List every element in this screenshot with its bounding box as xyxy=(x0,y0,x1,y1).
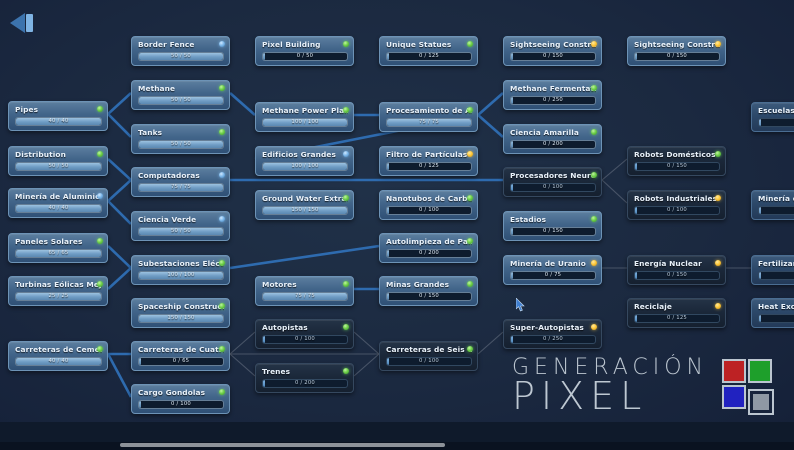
tech-node-spaceship-construction[interactable]: Spaceship Construction150 / 150 xyxy=(131,298,230,328)
mouse-cursor xyxy=(516,297,525,311)
tech-node-label: Autopistas xyxy=(262,323,348,333)
back-arrow-icon xyxy=(10,13,25,33)
tech-node-progress-bar: 0 / 100 xyxy=(634,206,720,215)
tech-node-green-gem-icon xyxy=(591,129,597,135)
tech-node-label: Unique Statues xyxy=(386,40,472,50)
horizontal-scrollbar[interactable] xyxy=(0,442,794,450)
tech-node-green-gem-icon xyxy=(467,281,473,287)
tech-node-label: Ground Water Extraction xyxy=(262,194,348,204)
tech-node-label: Methane Fermentation xyxy=(510,84,596,94)
tech-node-blue-gem-icon xyxy=(97,193,103,199)
tech-node-progress-bar: 100 / 100 xyxy=(138,271,224,280)
tech-node-progress-amount: 0 / 100 xyxy=(387,207,471,214)
tech-node-green-gem-icon xyxy=(219,260,225,266)
tech-node-progress-amount: 25 / 25 xyxy=(16,293,101,300)
tech-node-progress-bar: 40 / 40 xyxy=(15,357,102,366)
tech-node-motores[interactable]: Motores75 / 75 xyxy=(255,276,354,306)
tech-node-distribution[interactable]: Distribution50 / 50 xyxy=(8,146,108,176)
tech-node-mineria-aluminio[interactable]: Minería de Aluminio40 / 40 xyxy=(8,188,108,218)
tech-node-paneles-solares[interactable]: Paneles Solares65 / 65 xyxy=(8,233,108,263)
tech-node-ground-water-extraction[interactable]: Ground Water Extraction150 / 150 xyxy=(255,190,354,220)
tech-node-label: Autolimpieza de Paneles Solares xyxy=(386,237,472,247)
tech-node-green-gem-icon xyxy=(591,216,597,222)
tech-node-progress-bar: 0 / 150 xyxy=(634,162,720,171)
tech-node-label: Ciencia Amarilla xyxy=(510,128,596,138)
tech-node-label: Fertilizante xyxy=(758,259,794,269)
tech-node-minas-grandes[interactable]: Minas Grandes0 / 150 xyxy=(379,276,478,306)
tech-node-methane-fermentation[interactable]: Methane Fermentation0 / 250 xyxy=(503,80,602,110)
tech-node-unique-statues[interactable]: Unique Statues0 / 125 xyxy=(379,36,478,66)
tech-node-progress-bar: 0 / 150 xyxy=(386,292,472,301)
tech-node-progress-amount: 0 / 100 xyxy=(263,336,347,343)
tech-node-progress-amount: 100 / 100 xyxy=(139,272,223,279)
tech-node-yellow-gem-icon xyxy=(467,151,473,157)
tech-node-label: Trenes xyxy=(262,367,348,377)
tech-node-progress-bar: 150 / 150 xyxy=(262,206,348,215)
tech-node-progress-bar xyxy=(758,118,794,127)
tech-link xyxy=(602,180,627,203)
tech-node-procesadores-neuronales[interactable]: Procesadores Neuronales0 / 100 xyxy=(503,167,602,197)
tech-node-progress-bar: 65 / 65 xyxy=(15,249,102,258)
tech-node-computadoras[interactable]: Computadoras75 / 75 xyxy=(131,167,230,197)
tech-node-progress-bar: 0 / 125 xyxy=(386,52,472,61)
tech-node-green-gem-icon xyxy=(343,368,349,374)
tech-node-ciencia-amarilla[interactable]: Ciencia Amarilla0 / 200 xyxy=(503,124,602,154)
tech-node-progress-bar: 0 / 150 xyxy=(634,271,720,280)
tech-node-robots-industriales[interactable]: Robots Industriales0 / 100 xyxy=(627,190,726,220)
tech-node-progress-amount: 0 / 250 xyxy=(511,336,595,343)
tech-node-green-gem-icon xyxy=(467,195,473,201)
tech-link xyxy=(108,159,131,180)
tech-node-label: Procesamiento de Alimentos xyxy=(386,106,472,116)
tech-node-label: Pipes xyxy=(15,105,102,115)
tech-node-blue-gem-icon xyxy=(219,216,225,222)
tech-node-mineria-uranio[interactable]: Minería de Uranio0 / 75 xyxy=(503,255,602,285)
tech-node-yellow-gem-icon xyxy=(591,260,597,266)
tech-node-subestaciones[interactable]: Subestaciones Eléctricas100 / 100 xyxy=(131,255,230,285)
scrollbar-thumb[interactable] xyxy=(120,443,445,447)
tech-node-label: Energía Nuclear xyxy=(634,259,720,269)
tech-node-label: Super-Autopistas xyxy=(510,323,596,333)
tech-node-progress-amount: 0 / 125 xyxy=(387,53,471,60)
tech-node-green-gem-icon xyxy=(343,107,349,113)
tech-node-progress-amount: 150 / 150 xyxy=(263,207,347,214)
tech-node-progress-bar: 40 / 40 xyxy=(15,204,102,213)
tech-node-tanks[interactable]: Tanks50 / 50 xyxy=(131,124,230,154)
tech-node-label: Methane xyxy=(138,84,224,94)
tech-node-label: Edificios Grandes xyxy=(262,150,348,160)
tech-node-label: Robots Industriales xyxy=(634,194,720,204)
tech-link xyxy=(108,246,131,268)
tech-node-pixel-building[interactable]: Pixel Building0 / 50 xyxy=(255,36,354,66)
tech-node-progress-amount: 50 / 50 xyxy=(139,228,223,235)
tech-node-progress-bar: 0 / 250 xyxy=(510,335,596,344)
tech-node-energia-nuclear[interactable]: Energía Nuclear0 / 150 xyxy=(627,255,726,285)
tech-node-border-fence[interactable]: Border Fence50 / 50 xyxy=(131,36,230,66)
tech-node-fertilizante[interactable]: Fertilizante xyxy=(751,255,794,285)
tech-node-estadios[interactable]: Estadios0 / 150 xyxy=(503,211,602,241)
tech-node-progress-bar: 0 / 75 xyxy=(510,271,596,280)
tech-node-progress-amount: 0 / 150 xyxy=(635,53,719,60)
tech-node-progress-amount: 75 / 75 xyxy=(139,184,223,191)
tech-node-progress-bar xyxy=(758,271,794,280)
tech-node-progress-bar xyxy=(758,206,794,215)
tech-node-label: Distribution xyxy=(15,150,102,160)
tech-node-progress-bar: 0 / 100 xyxy=(138,400,224,409)
tech-link xyxy=(602,159,627,180)
tech-node-label: Cargo Gondolas xyxy=(138,388,224,398)
tech-node-progress-bar: 0 / 100 xyxy=(386,206,472,215)
tech-node-progress-amount: 0 / 150 xyxy=(387,293,471,300)
tech-node-carreteras-cemento[interactable]: Carreteras de Cemento40 / 40 xyxy=(8,341,108,371)
tech-node-progress-amount: 50 / 50 xyxy=(139,97,223,104)
tech-node-label: Minería de Uranio xyxy=(510,259,596,269)
tech-node-progress-bar: 0 / 150 xyxy=(510,52,596,61)
tech-node-progress-amount xyxy=(759,315,794,322)
tech-link xyxy=(354,332,379,354)
tech-link xyxy=(478,332,503,354)
tech-node-progress-bar: 0 / 200 xyxy=(510,140,596,149)
tech-link xyxy=(230,93,255,115)
tech-node-progress-bar: 0 / 100 xyxy=(510,183,596,192)
tech-node-progress-bar: 0 / 200 xyxy=(386,249,472,258)
tech-node-label: Reciclaje xyxy=(634,302,720,312)
tech-node-escuelas[interactable]: Escuelas xyxy=(751,102,794,132)
tech-node-label: Tanks xyxy=(138,128,224,138)
tech-node-progress-bar: 50 / 50 xyxy=(138,52,224,61)
tech-node-green-gem-icon xyxy=(343,41,349,47)
tech-node-label: Methane Power Plants xyxy=(262,106,348,116)
tech-node-label: Sightseeing Constructions A xyxy=(510,40,596,50)
tech-node-green-gem-icon xyxy=(591,85,597,91)
tech-node-green-gem-icon xyxy=(97,106,103,112)
tech-node-label: Subestaciones Eléctricas xyxy=(138,259,224,269)
tech-node-progress-bar: 100 / 100 xyxy=(262,162,348,171)
tech-node-progress-bar: 75 / 75 xyxy=(386,118,472,127)
tech-node-label: Filtro de Partículas xyxy=(386,150,472,160)
tech-node-yellow-gem-icon xyxy=(715,260,721,266)
tech-node-nanotubos-carbono[interactable]: Nanotubos de Carbono0 / 100 xyxy=(379,190,478,220)
tech-node-progress-bar: 40 / 40 xyxy=(15,117,102,126)
tech-node-blue-gem-icon xyxy=(219,41,225,47)
tech-node-label: Carreteras de Cemento xyxy=(15,345,102,355)
tech-node-label: Sightseeing Constructions B xyxy=(634,40,720,50)
tech-node-progress-amount: 150 / 150 xyxy=(139,315,223,322)
tech-node-progress-bar: 25 / 25 xyxy=(15,292,102,301)
tech-node-progress-bar: 0 / 150 xyxy=(510,227,596,236)
tech-node-progress-amount: 0 / 75 xyxy=(511,272,595,279)
tech-node-green-gem-icon xyxy=(591,172,597,178)
tech-link xyxy=(478,93,503,115)
tech-node-progress-amount: 40 / 40 xyxy=(16,205,101,212)
tech-node-robots-domesticos[interactable]: Robots Domésticos0 / 150 xyxy=(627,146,726,176)
tech-node-progress-amount: 0 / 125 xyxy=(635,315,719,322)
tech-node-progress-amount: 75 / 75 xyxy=(387,119,471,126)
tech-node-label: Motores xyxy=(262,280,348,290)
tech-link xyxy=(230,246,379,268)
tech-node-progress-bar: 50 / 50 xyxy=(138,140,224,149)
tech-node-yellow-gem-icon xyxy=(715,303,721,309)
tech-node-yellow-gem-icon xyxy=(715,195,721,201)
tech-node-progress-amount: 0 / 150 xyxy=(511,53,595,60)
tech-node-label: Ciencia Verde xyxy=(138,215,224,225)
back-button[interactable] xyxy=(10,10,44,36)
tech-node-progress-amount: 0 / 150 xyxy=(635,163,719,170)
tech-node-progress-amount xyxy=(759,119,794,126)
tech-node-green-gem-icon xyxy=(97,238,103,244)
tech-node-autopistas[interactable]: Autopistas0 / 100 xyxy=(255,319,354,349)
tech-node-progress-amount: 0 / 150 xyxy=(635,272,719,279)
tech-node-progress-amount: 0 / 100 xyxy=(139,401,223,408)
tech-node-label: Minería de Iri xyxy=(758,194,794,204)
tech-node-progress-amount xyxy=(759,207,794,214)
tech-node-label: Robots Domésticos xyxy=(634,150,720,160)
tech-node-label: Spaceship Construction xyxy=(138,302,224,312)
tech-node-procesamiento-alimentos[interactable]: Procesamiento de Alimentos75 / 75 xyxy=(379,102,478,132)
tech-node-progress-bar: 0 / 125 xyxy=(386,162,472,171)
tech-node-green-gem-icon xyxy=(97,151,103,157)
tech-node-sightseeing-b[interactable]: Sightseeing Constructions B0 / 150 xyxy=(627,36,726,66)
tech-node-progress-bar: 100 / 100 xyxy=(262,118,348,127)
tech-node-cargo-gondolas[interactable]: Cargo Gondolas0 / 100 xyxy=(131,384,230,414)
tech-node-label: Escuelas xyxy=(758,106,794,116)
tech-node-ciencia-verde[interactable]: Ciencia Verde50 / 50 xyxy=(131,211,230,241)
tech-node-progress-amount: 50 / 50 xyxy=(139,53,223,60)
tech-node-progress-bar: 0 / 50 xyxy=(262,52,348,61)
tech-node-progress-amount: 0 / 250 xyxy=(511,97,595,104)
tech-node-label: Nanotubos de Carbono xyxy=(386,194,472,204)
tech-node-label: Border Fence xyxy=(138,40,224,50)
back-bar-icon xyxy=(26,14,33,32)
tech-node-progress-bar: 0 / 100 xyxy=(386,357,472,366)
tech-node-progress-amount: 0 / 125 xyxy=(387,163,471,170)
tech-link xyxy=(108,354,131,397)
tech-node-reciclaje[interactable]: Reciclaje0 / 125 xyxy=(627,298,726,328)
tech-node-progress-bar: 75 / 75 xyxy=(262,292,348,301)
tech-node-yellow-gem-icon xyxy=(715,41,721,47)
tech-node-progress-amount: 0 / 200 xyxy=(387,250,471,257)
tech-node-trenes[interactable]: Trenes0 / 200 xyxy=(255,363,354,393)
tech-node-green-gem-icon xyxy=(97,346,103,352)
tech-node-progress-bar: 50 / 50 xyxy=(15,162,102,171)
tech-node-progress-amount: 50 / 50 xyxy=(16,163,101,170)
tech-node-label: Heat Exchang xyxy=(758,302,794,312)
tech-node-progress-amount: 0 / 100 xyxy=(387,358,471,365)
tech-node-progress-amount: 65 / 65 xyxy=(16,250,101,257)
tech-node-progress-amount: 0 / 200 xyxy=(511,141,595,148)
tech-link xyxy=(478,115,503,137)
tech-node-autolimpieza-paneles[interactable]: Autolimpieza de Paneles Solares0 / 200 xyxy=(379,233,478,263)
tech-node-green-gem-icon xyxy=(467,41,473,47)
tech-node-progress-amount: 0 / 100 xyxy=(635,207,719,214)
tech-node-carreteras-seis[interactable]: Carreteras de Seis Carriles0 / 100 xyxy=(379,341,478,371)
tech-node-label: Minería de Aluminio xyxy=(15,192,102,202)
tech-node-green-gem-icon xyxy=(715,151,721,157)
tech-node-progress-amount: 0 / 65 xyxy=(139,358,223,365)
tech-node-heat-exchanger[interactable]: Heat Exchang xyxy=(751,298,794,328)
tech-node-label: Procesadores Neuronales xyxy=(510,171,596,181)
tech-link xyxy=(230,354,255,376)
tech-node-progress-bar: 0 / 250 xyxy=(510,96,596,105)
tech-node-progress-bar: 0 / 200 xyxy=(262,379,348,388)
tech-node-blue-gem-icon xyxy=(343,151,349,157)
tech-node-label: Turbinas Eólicas Mejoradas xyxy=(15,280,102,290)
tech-link xyxy=(354,354,379,376)
tech-node-green-gem-icon xyxy=(467,238,473,244)
tech-node-green-gem-icon xyxy=(219,129,225,135)
tech-node-progress-bar xyxy=(758,314,794,323)
tech-node-yellow-gem-icon xyxy=(591,41,597,47)
tech-node-label: Pixel Building xyxy=(262,40,348,50)
tech-node-edificios-grandes[interactable]: Edificios Grandes100 / 100 xyxy=(255,146,354,176)
tech-link xyxy=(108,201,131,224)
tech-node-label: Computadoras xyxy=(138,171,224,181)
tech-node-progress-bar: 0 / 150 xyxy=(634,52,720,61)
tech-node-label: Minas Grandes xyxy=(386,280,472,290)
tech-node-green-gem-icon xyxy=(219,346,225,352)
tech-node-progress-amount: 50 / 50 xyxy=(139,141,223,148)
tech-node-progress-amount: 0 / 50 xyxy=(263,53,347,60)
tech-node-progress-amount xyxy=(759,272,794,279)
tech-node-progress-amount: 0 / 200 xyxy=(263,380,347,387)
tech-node-green-gem-icon xyxy=(467,346,473,352)
tech-node-progress-amount: 40 / 40 xyxy=(16,118,101,125)
tech-node-green-gem-icon xyxy=(343,281,349,287)
tech-node-progress-amount: 100 / 100 xyxy=(263,163,347,170)
tech-node-green-gem-icon xyxy=(219,85,225,91)
tech-tree-connection-lines xyxy=(0,0,794,450)
tech-node-green-gem-icon xyxy=(343,324,349,330)
tech-node-progress-amount: 0 / 150 xyxy=(511,228,595,235)
tech-node-green-gem-icon xyxy=(97,281,103,287)
tech-link xyxy=(108,180,131,201)
tech-link xyxy=(108,114,131,137)
tech-node-label: Paneles Solares xyxy=(15,237,102,247)
tech-node-label: Carreteras de Cuatro Carriles xyxy=(138,345,224,355)
tech-node-progress-bar: 0 / 125 xyxy=(634,314,720,323)
tech-node-progress-bar: 0 / 100 xyxy=(262,335,348,344)
tech-node-methane[interactable]: Methane50 / 50 xyxy=(131,80,230,110)
tech-node-sightseeing-a[interactable]: Sightseeing Constructions A0 / 150 xyxy=(503,36,602,66)
tech-node-label: Estadios xyxy=(510,215,596,225)
tech-node-progress-amount: 40 / 40 xyxy=(16,358,101,365)
tech-node-filtro-particulas[interactable]: Filtro de Partículas0 / 125 xyxy=(379,146,478,176)
tech-link xyxy=(230,332,255,354)
tech-node-progress-bar: 75 / 75 xyxy=(138,183,224,192)
tech-node-methane-power-plants[interactable]: Methane Power Plants100 / 100 xyxy=(255,102,354,132)
tech-node-green-gem-icon xyxy=(467,107,473,113)
tech-node-label: Carreteras de Seis Carriles xyxy=(386,345,472,355)
tech-link xyxy=(108,93,131,114)
tech-node-pipes[interactable]: Pipes40 / 40 xyxy=(8,101,108,131)
tech-node-progress-bar: 50 / 50 xyxy=(138,227,224,236)
tech-node-yellow-gem-icon xyxy=(591,324,597,330)
tech-tree-canvas[interactable]: Pipes40 / 40Distribution50 / 50Minería d… xyxy=(0,0,794,450)
tech-node-mineria-iridio[interactable]: Minería de Iri xyxy=(751,190,794,220)
tech-node-turbinas-eolicas[interactable]: Turbinas Eólicas Mejoradas25 / 25 xyxy=(8,276,108,306)
bottom-strip xyxy=(0,422,794,442)
tech-node-progress-amount: 75 / 75 xyxy=(263,293,347,300)
tech-node-green-gem-icon xyxy=(343,195,349,201)
tech-node-blue-gem-icon xyxy=(219,172,225,178)
tech-node-progress-bar: 0 / 65 xyxy=(138,357,224,366)
tech-node-progress-amount: 100 / 100 xyxy=(263,119,347,126)
tech-node-progress-amount: 0 / 100 xyxy=(511,184,595,191)
tech-node-green-gem-icon xyxy=(219,389,225,395)
tech-node-progress-bar: 150 / 150 xyxy=(138,314,224,323)
tech-node-carreteras-cuatro[interactable]: Carreteras de Cuatro Carriles0 / 65 xyxy=(131,341,230,371)
tech-link xyxy=(108,268,131,289)
tech-node-super-autopistas[interactable]: Super-Autopistas0 / 250 xyxy=(503,319,602,349)
tech-node-green-gem-icon xyxy=(219,303,225,309)
tech-node-progress-bar: 50 / 50 xyxy=(138,96,224,105)
